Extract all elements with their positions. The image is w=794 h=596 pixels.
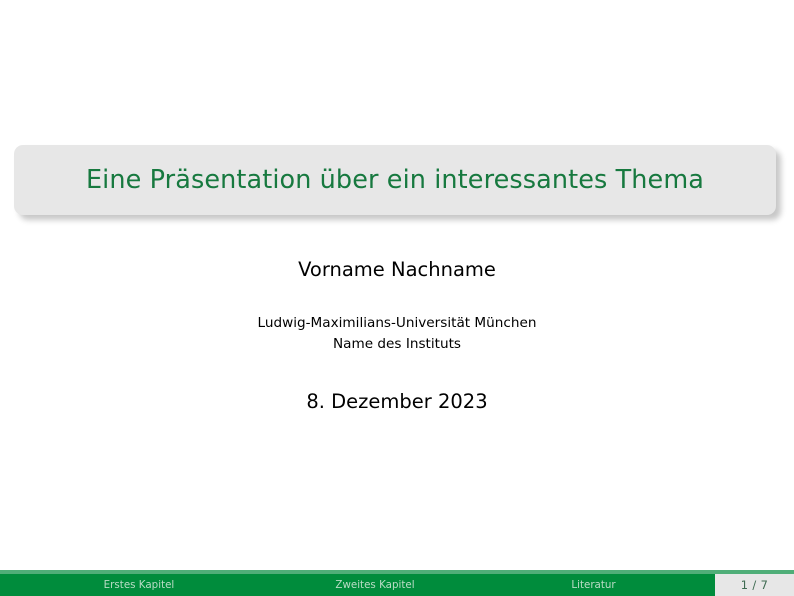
institute-department: Name des Instituts xyxy=(0,334,794,355)
footer-section-bar: Erstes Kapitel Zweites Kapitel Literatur xyxy=(0,574,715,596)
nav-section-erstes-kapitel[interactable]: Erstes Kapitel xyxy=(0,574,278,596)
title-box: Eine Präsentation über ein interessantes… xyxy=(14,145,776,215)
title-box-surface: Eine Präsentation über ein interessantes… xyxy=(14,145,776,215)
institute-university: Ludwig-Maximilians-Universität München xyxy=(0,313,794,334)
title-slide-metadata: Vorname Nachname Ludwig-Maximilians-Univ… xyxy=(0,258,794,413)
presentation-slide: Eine Präsentation über ein interessantes… xyxy=(0,0,794,596)
presentation-date: 8. Dezember 2023 xyxy=(0,390,794,413)
nav-section-label: Literatur xyxy=(571,579,615,591)
footer-navigation-bar: Erstes Kapitel Zweites Kapitel Literatur… xyxy=(0,570,794,596)
author-name: Vorname Nachname xyxy=(0,258,794,281)
nav-section-zweites-kapitel[interactable]: Zweites Kapitel xyxy=(278,574,472,596)
nav-section-label: Zweites Kapitel xyxy=(335,579,414,591)
frame-counter: 1 / 7 xyxy=(741,578,769,592)
slide-title: Eine Präsentation über ein interessantes… xyxy=(86,166,704,194)
institute-block: Ludwig-Maximilians-Universität München N… xyxy=(0,313,794,355)
nav-section-literatur[interactable]: Literatur xyxy=(472,574,715,596)
frame-counter-box: 1 / 7 xyxy=(715,574,794,596)
nav-section-label: Erstes Kapitel xyxy=(104,579,175,591)
